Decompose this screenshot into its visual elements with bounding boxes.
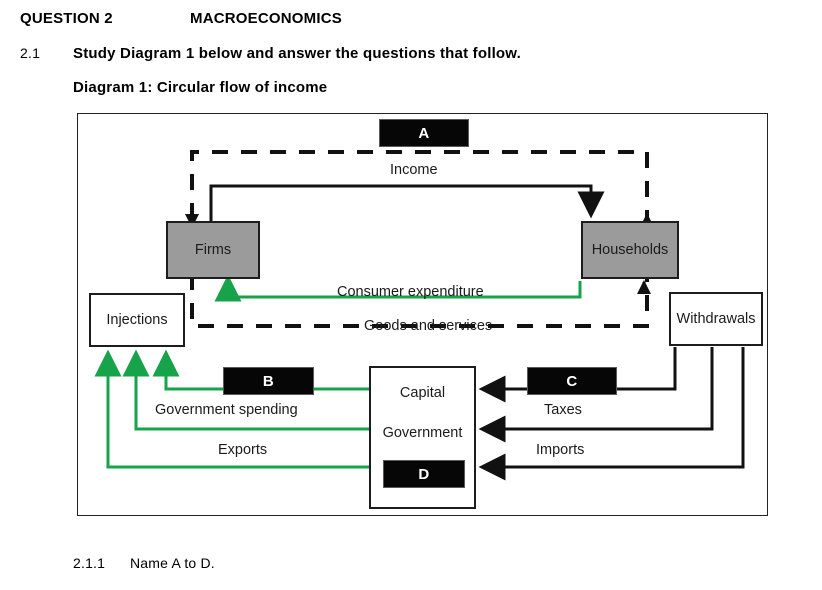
blank-answer-box-c[interactable]: C — [527, 367, 617, 395]
node-firms[interactable]: Firms — [166, 221, 260, 279]
flow-label-consumer-expenditure: Consumer expenditure — [337, 284, 484, 300]
flow-label-goods-and-services: Goods and services — [364, 318, 492, 334]
node-injections-label: Injections — [106, 312, 167, 328]
blank-answer-box-a-label: A — [418, 125, 429, 142]
subitem-text: Name A to D. — [130, 555, 215, 571]
question-label: QUESTION 2 — [20, 10, 113, 27]
blank-answer-box-b[interactable]: B — [223, 367, 314, 395]
subitem-number: 2.1.1 — [73, 555, 105, 571]
arrowhead-withdrawals-to-households — [637, 280, 651, 294]
blank-answer-box-b-label: B — [263, 373, 274, 390]
central-row-capital: Capital — [371, 385, 474, 401]
flow-label-taxes: Taxes — [544, 402, 582, 418]
blank-answer-box-a[interactable]: A — [379, 119, 469, 147]
flow-label-exports: Exports — [218, 442, 267, 458]
flow-label-income: Income — [390, 162, 438, 178]
flow-withdrawals-arrows — [483, 347, 743, 467]
node-firms-label: Firms — [195, 242, 231, 258]
node-withdrawals-label: Withdrawals — [677, 311, 756, 327]
item-instruction: Study Diagram 1 below and answer the que… — [73, 45, 521, 62]
node-households-label: Households — [592, 242, 669, 258]
flow-label-government-spending: Government spending — [155, 402, 298, 418]
blank-answer-box-d-label: D — [418, 466, 429, 483]
node-central-sector-box[interactable]: Capital Government D — [369, 366, 476, 509]
diagram-circular-flow-of-income: Firms Households Injections Withdrawals … — [77, 113, 768, 516]
node-injections[interactable]: Injections — [89, 293, 185, 347]
item-number: 2.1 — [20, 45, 40, 61]
flow-label-imports: Imports — [536, 442, 584, 458]
topic-label: MACROECONOMICS — [190, 10, 342, 27]
flow-income — [211, 186, 591, 221]
central-row-government: Government — [371, 425, 474, 441]
node-withdrawals[interactable]: Withdrawals — [669, 292, 763, 346]
blank-answer-box-c-label: C — [566, 373, 577, 390]
diagram-caption: Diagram 1: Circular flow of income — [73, 79, 327, 96]
blank-answer-box-d[interactable]: D — [383, 460, 465, 488]
node-households[interactable]: Households — [581, 221, 679, 279]
